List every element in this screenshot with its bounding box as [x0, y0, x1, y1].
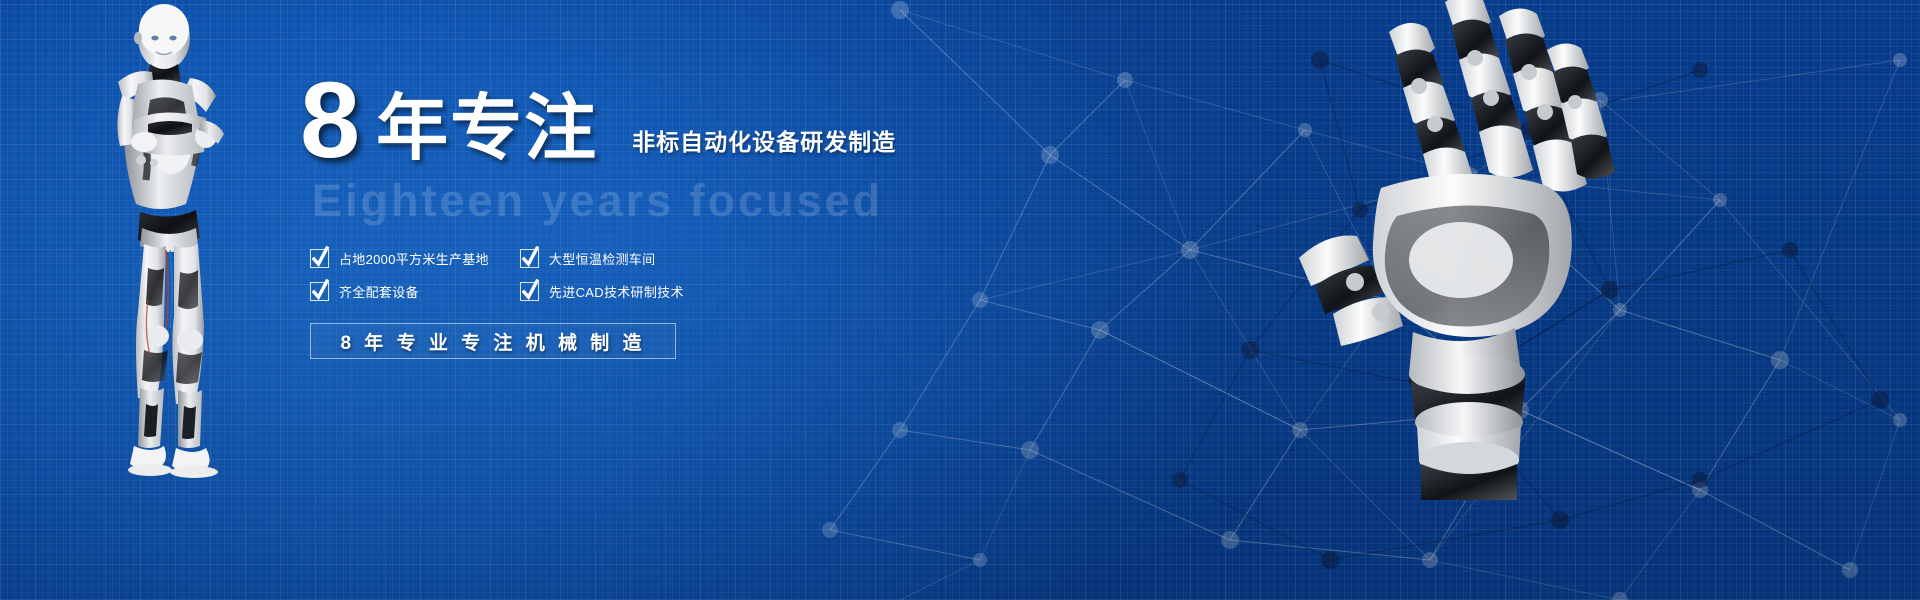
humanoid-robot-figure — [78, 0, 258, 490]
headline-number: 8 — [300, 70, 358, 169]
check-icon — [310, 282, 329, 301]
feature-item: 占地2000平方米生产基地 — [310, 249, 520, 268]
background-vignette — [0, 0, 1920, 600]
ghost-english-text: Eighteen years focused — [312, 175, 920, 227]
background-fine-grid — [0, 0, 1920, 600]
banner-content: 8 年专注 非标自动化设备研发制造 Eighteen years focused… — [300, 70, 920, 359]
background-coarse-grid — [0, 0, 1920, 600]
headline-row: 8 年专注 非标自动化设备研发制造 — [300, 70, 920, 169]
feature-list: 占地2000平方米生产基地 大型恒温检测车间 齐全配套设备 先进CAD技术研制技… — [310, 249, 920, 301]
cta-label: 8 年 专 业 专 注 机 械 制 造 — [340, 328, 645, 355]
check-icon — [310, 249, 329, 268]
cta-box[interactable]: 8 年 专 业 专 注 机 械 制 造 — [310, 323, 676, 359]
headline-subtitle: 非标自动化设备研发制造 — [632, 123, 896, 157]
feature-label: 占地2000平方米生产基地 — [339, 249, 489, 268]
hero-banner: 8 年专注 非标自动化设备研发制造 Eighteen years focused… — [0, 0, 1920, 600]
headline-chinese: 年专注 — [376, 93, 598, 165]
feature-item: 齐全配套设备 — [310, 282, 520, 301]
check-icon — [520, 282, 539, 301]
robotic-hand-figure — [1285, 0, 1615, 500]
feature-item: 大型恒温检测车间 — [520, 249, 730, 268]
feature-label: 大型恒温检测车间 — [549, 249, 655, 268]
feature-label: 先进CAD技术研制技术 — [549, 282, 684, 301]
feature-label: 齐全配套设备 — [339, 282, 419, 301]
network-nodes-decoration — [0, 0, 1920, 600]
check-icon — [520, 249, 539, 268]
feature-item: 先进CAD技术研制技术 — [520, 282, 730, 301]
